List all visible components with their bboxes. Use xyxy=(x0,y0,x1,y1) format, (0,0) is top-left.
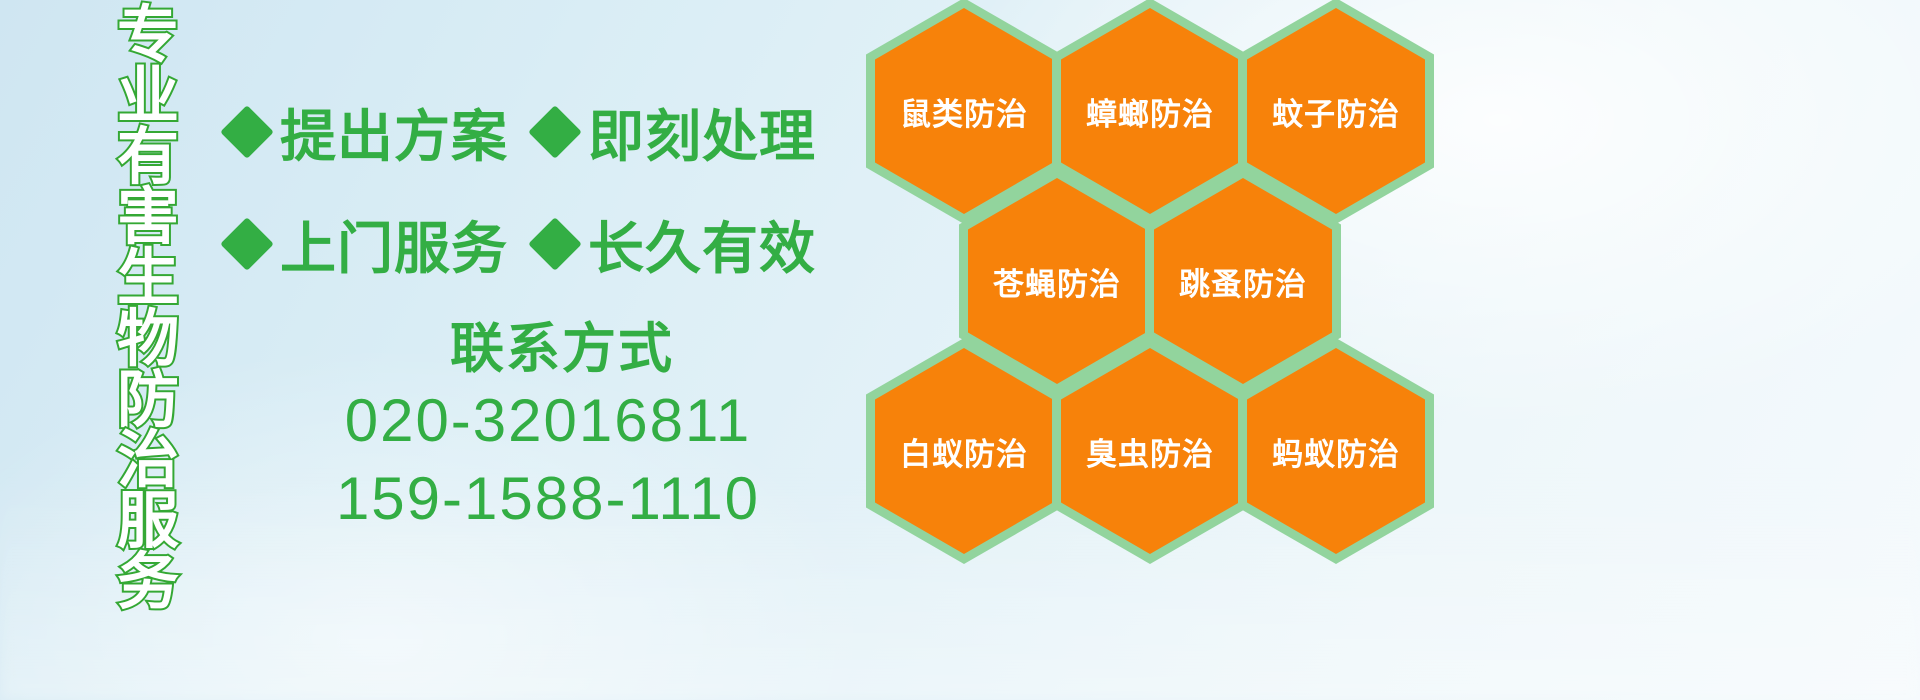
feature-item-propose-plan: 提出方案 xyxy=(228,92,508,173)
contact-phone-landline[interactable]: 020-32016811 xyxy=(228,382,868,460)
hex-label: 鼠类防治 xyxy=(900,89,1028,134)
diamond-icon xyxy=(528,217,582,271)
diamond-icon xyxy=(220,105,274,159)
pest-control-banner: 专 业 有 害 生 物 防 治 服 务 提出方案 即刻处理 上门服务 xyxy=(0,0,1920,700)
vertical-slogan-char: 害 xyxy=(117,188,179,249)
feature-item-immediate-handling: 即刻处理 xyxy=(536,92,816,173)
hex-label: 白蚁防治 xyxy=(900,429,1028,474)
hex-label: 臭虫防治 xyxy=(1086,429,1214,474)
feature-label: 上门服务 xyxy=(280,204,508,285)
hex-label: 蚂蚁防治 xyxy=(1272,429,1400,474)
feature-label: 长久有效 xyxy=(588,204,816,285)
honeycomb-service-grid: 鼠类防治 蟑螂防治 蚊子防治 苍蝇防治 跳蚤防治 白蚁防治 臭虫防治 蚂蚁 xyxy=(862,0,1462,552)
feature-label: 提出方案 xyxy=(280,92,508,173)
feature-item-door-to-door-service: 上门服务 xyxy=(228,204,508,285)
hex-label: 苍蝇防治 xyxy=(993,259,1121,304)
vertical-slogan-char: 物 xyxy=(117,310,179,371)
feature-label: 即刻处理 xyxy=(588,92,816,173)
vertical-slogan-char: 有 xyxy=(117,128,179,189)
vertical-slogan: 专 业 有 害 生 物 防 治 服 务 xyxy=(105,6,191,566)
feature-row: 提出方案 即刻处理 xyxy=(228,76,868,188)
diamond-icon xyxy=(220,217,274,271)
feature-list: 提出方案 即刻处理 上门服务 长久有效 xyxy=(228,76,868,300)
vertical-slogan-char: 业 xyxy=(117,67,179,128)
hex-label: 蟑螂防治 xyxy=(1086,89,1214,134)
hex-label: 蚊子防治 xyxy=(1272,89,1400,134)
vertical-slogan-char: 服 xyxy=(117,492,179,553)
feature-item-long-lasting-effect: 长久有效 xyxy=(536,204,816,285)
vertical-slogan-char: 专 xyxy=(117,6,179,67)
contact-title: 联系方式 xyxy=(228,318,868,382)
vertical-slogan-char: 生 xyxy=(117,249,179,310)
contact-phone-mobile[interactable]: 159-1588-1110 xyxy=(228,460,868,538)
vertical-slogan-char: 务 xyxy=(117,553,179,614)
vertical-slogan-char: 防 xyxy=(117,371,179,432)
vertical-slogan-char: 治 xyxy=(117,431,179,492)
hex-label: 跳蚤防治 xyxy=(1179,259,1307,304)
feature-row: 上门服务 长久有效 xyxy=(228,188,868,300)
diamond-icon xyxy=(528,105,582,159)
contact-block: 联系方式 020-32016811 159-1588-1110 xyxy=(228,318,868,538)
